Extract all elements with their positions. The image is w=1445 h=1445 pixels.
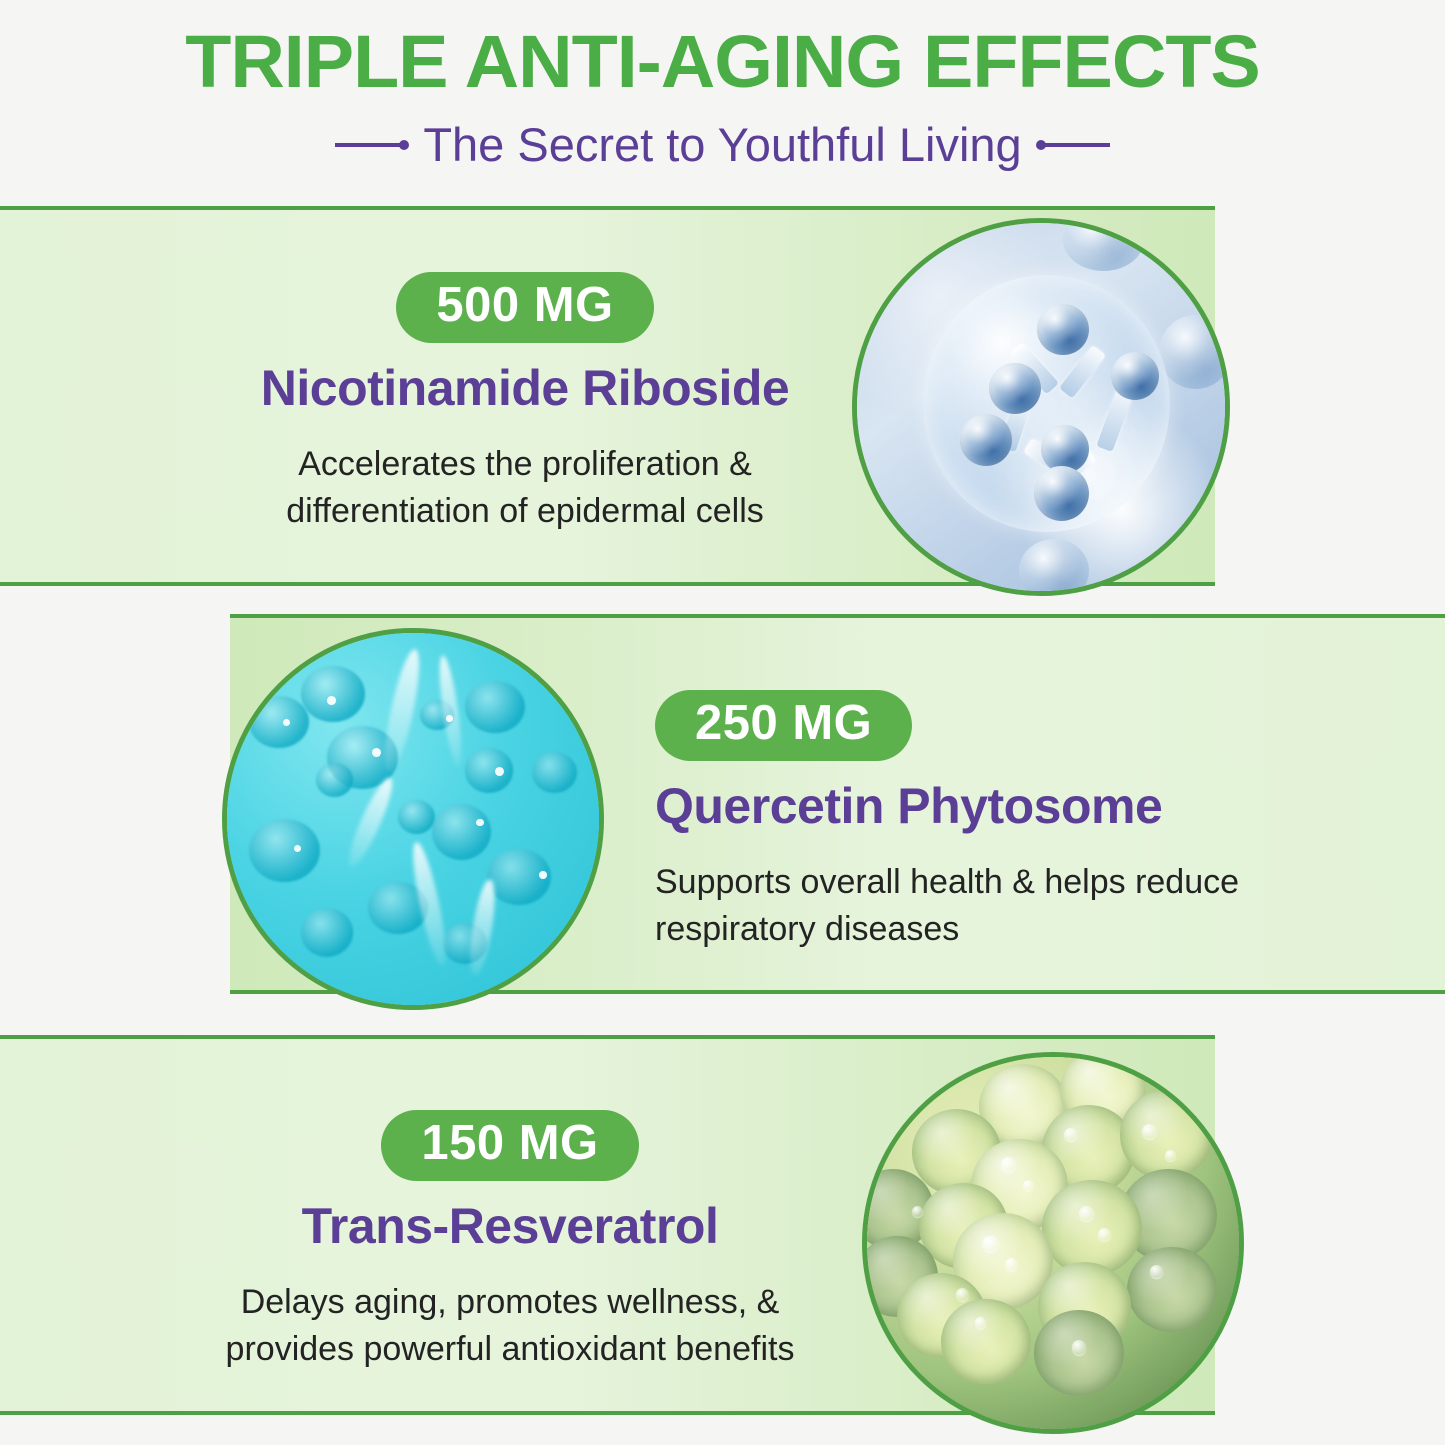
gel-highlight-1	[327, 696, 336, 705]
molecule-droplet-bottom	[1019, 539, 1089, 596]
molecule-bubble-image	[852, 218, 1230, 596]
header: TRIPLE ANTI-AGING EFFECTS The Secret to …	[0, 0, 1445, 192]
page-title: TRIPLE ANTI-AGING EFFECTS	[0, 0, 1445, 99]
grape-13	[1127, 1247, 1216, 1333]
molecule-droplet-right	[1159, 315, 1230, 389]
water-droplet-13	[1072, 1340, 1087, 1355]
water-droplet-9	[1064, 1128, 1077, 1141]
green-grapes-image	[862, 1052, 1244, 1434]
dose-badge-1: 500 MG	[396, 272, 653, 343]
molecule-atom-top	[1037, 304, 1089, 356]
ingredient-description-2: Supports overall health & helps reduce r…	[655, 859, 1275, 953]
gel-highlight-4	[495, 767, 504, 776]
gel-highlight-8	[539, 871, 546, 878]
ingredient-name-3: Trans-Resveratrol	[190, 1199, 830, 1253]
water-droplet-12	[1150, 1265, 1163, 1278]
teal-gel-bubbles-image	[222, 628, 604, 1010]
gel-bubble-8	[316, 763, 353, 796]
grape-16	[941, 1299, 1030, 1385]
left-dash-ornament-icon	[335, 139, 409, 151]
gel-bubble-11	[432, 804, 492, 860]
water-droplet-5	[1079, 1206, 1094, 1221]
gel-bubble-10	[398, 800, 435, 833]
gel-bubble-1	[249, 696, 309, 748]
dose-badge-2: 250 MG	[655, 690, 912, 761]
water-droplet-1	[1001, 1157, 1016, 1172]
dose-badge-3: 150 MG	[381, 1110, 638, 1181]
gel-highlight-5	[446, 715, 453, 722]
ingredient-description-3: Delays aging, promotes wellness, & provi…	[190, 1279, 830, 1373]
ingredient-content-3: 150 MG Trans-Resveratrol Delays aging, p…	[190, 1110, 830, 1373]
gel-bubble-9	[249, 819, 320, 882]
molecule-atom-bottom	[1034, 466, 1089, 521]
gel-highlight-7	[476, 819, 483, 826]
gel-bubble-2	[301, 666, 364, 722]
molecule-atom-left-lower	[960, 414, 1012, 466]
water-droplet-8	[1165, 1150, 1176, 1161]
subtitle-row: The Secret to Youthful Living	[0, 121, 1445, 168]
water-droplet-3	[982, 1236, 999, 1253]
grape-5	[1120, 1090, 1213, 1179]
ingredient-name-1: Nicotinamide Riboside	[215, 361, 835, 415]
ingredient-name-2: Quercetin Phytosome	[655, 779, 1275, 833]
water-droplet-11	[975, 1317, 986, 1328]
infographic-page: TRIPLE ANTI-AGING EFFECTS The Secret to …	[0, 0, 1445, 1445]
ingredient-description-1: Accelerates the proliferation & differen…	[215, 441, 835, 535]
molecule-atom-right-upper	[1111, 352, 1159, 400]
water-droplet-4	[1005, 1258, 1018, 1271]
ingredient-content-2: 250 MG Quercetin Phytosome Supports over…	[655, 690, 1275, 953]
right-dash-ornament-icon	[1036, 139, 1110, 151]
ingredient-content-1: 500 MG Nicotinamide Riboside Accelerates…	[215, 272, 835, 535]
water-droplet-14	[912, 1206, 923, 1217]
water-droplet-6	[1098, 1228, 1111, 1241]
gel-bubble-5	[465, 681, 525, 733]
water-droplet-10	[956, 1288, 969, 1301]
water-droplet-7	[1142, 1124, 1157, 1139]
gel-bubble-6	[465, 748, 513, 793]
page-subtitle: The Secret to Youthful Living	[423, 121, 1021, 168]
gel-bubble-7	[532, 752, 577, 793]
molecule-atom-left-upper	[989, 363, 1041, 415]
gel-bubble-14	[301, 908, 353, 956]
